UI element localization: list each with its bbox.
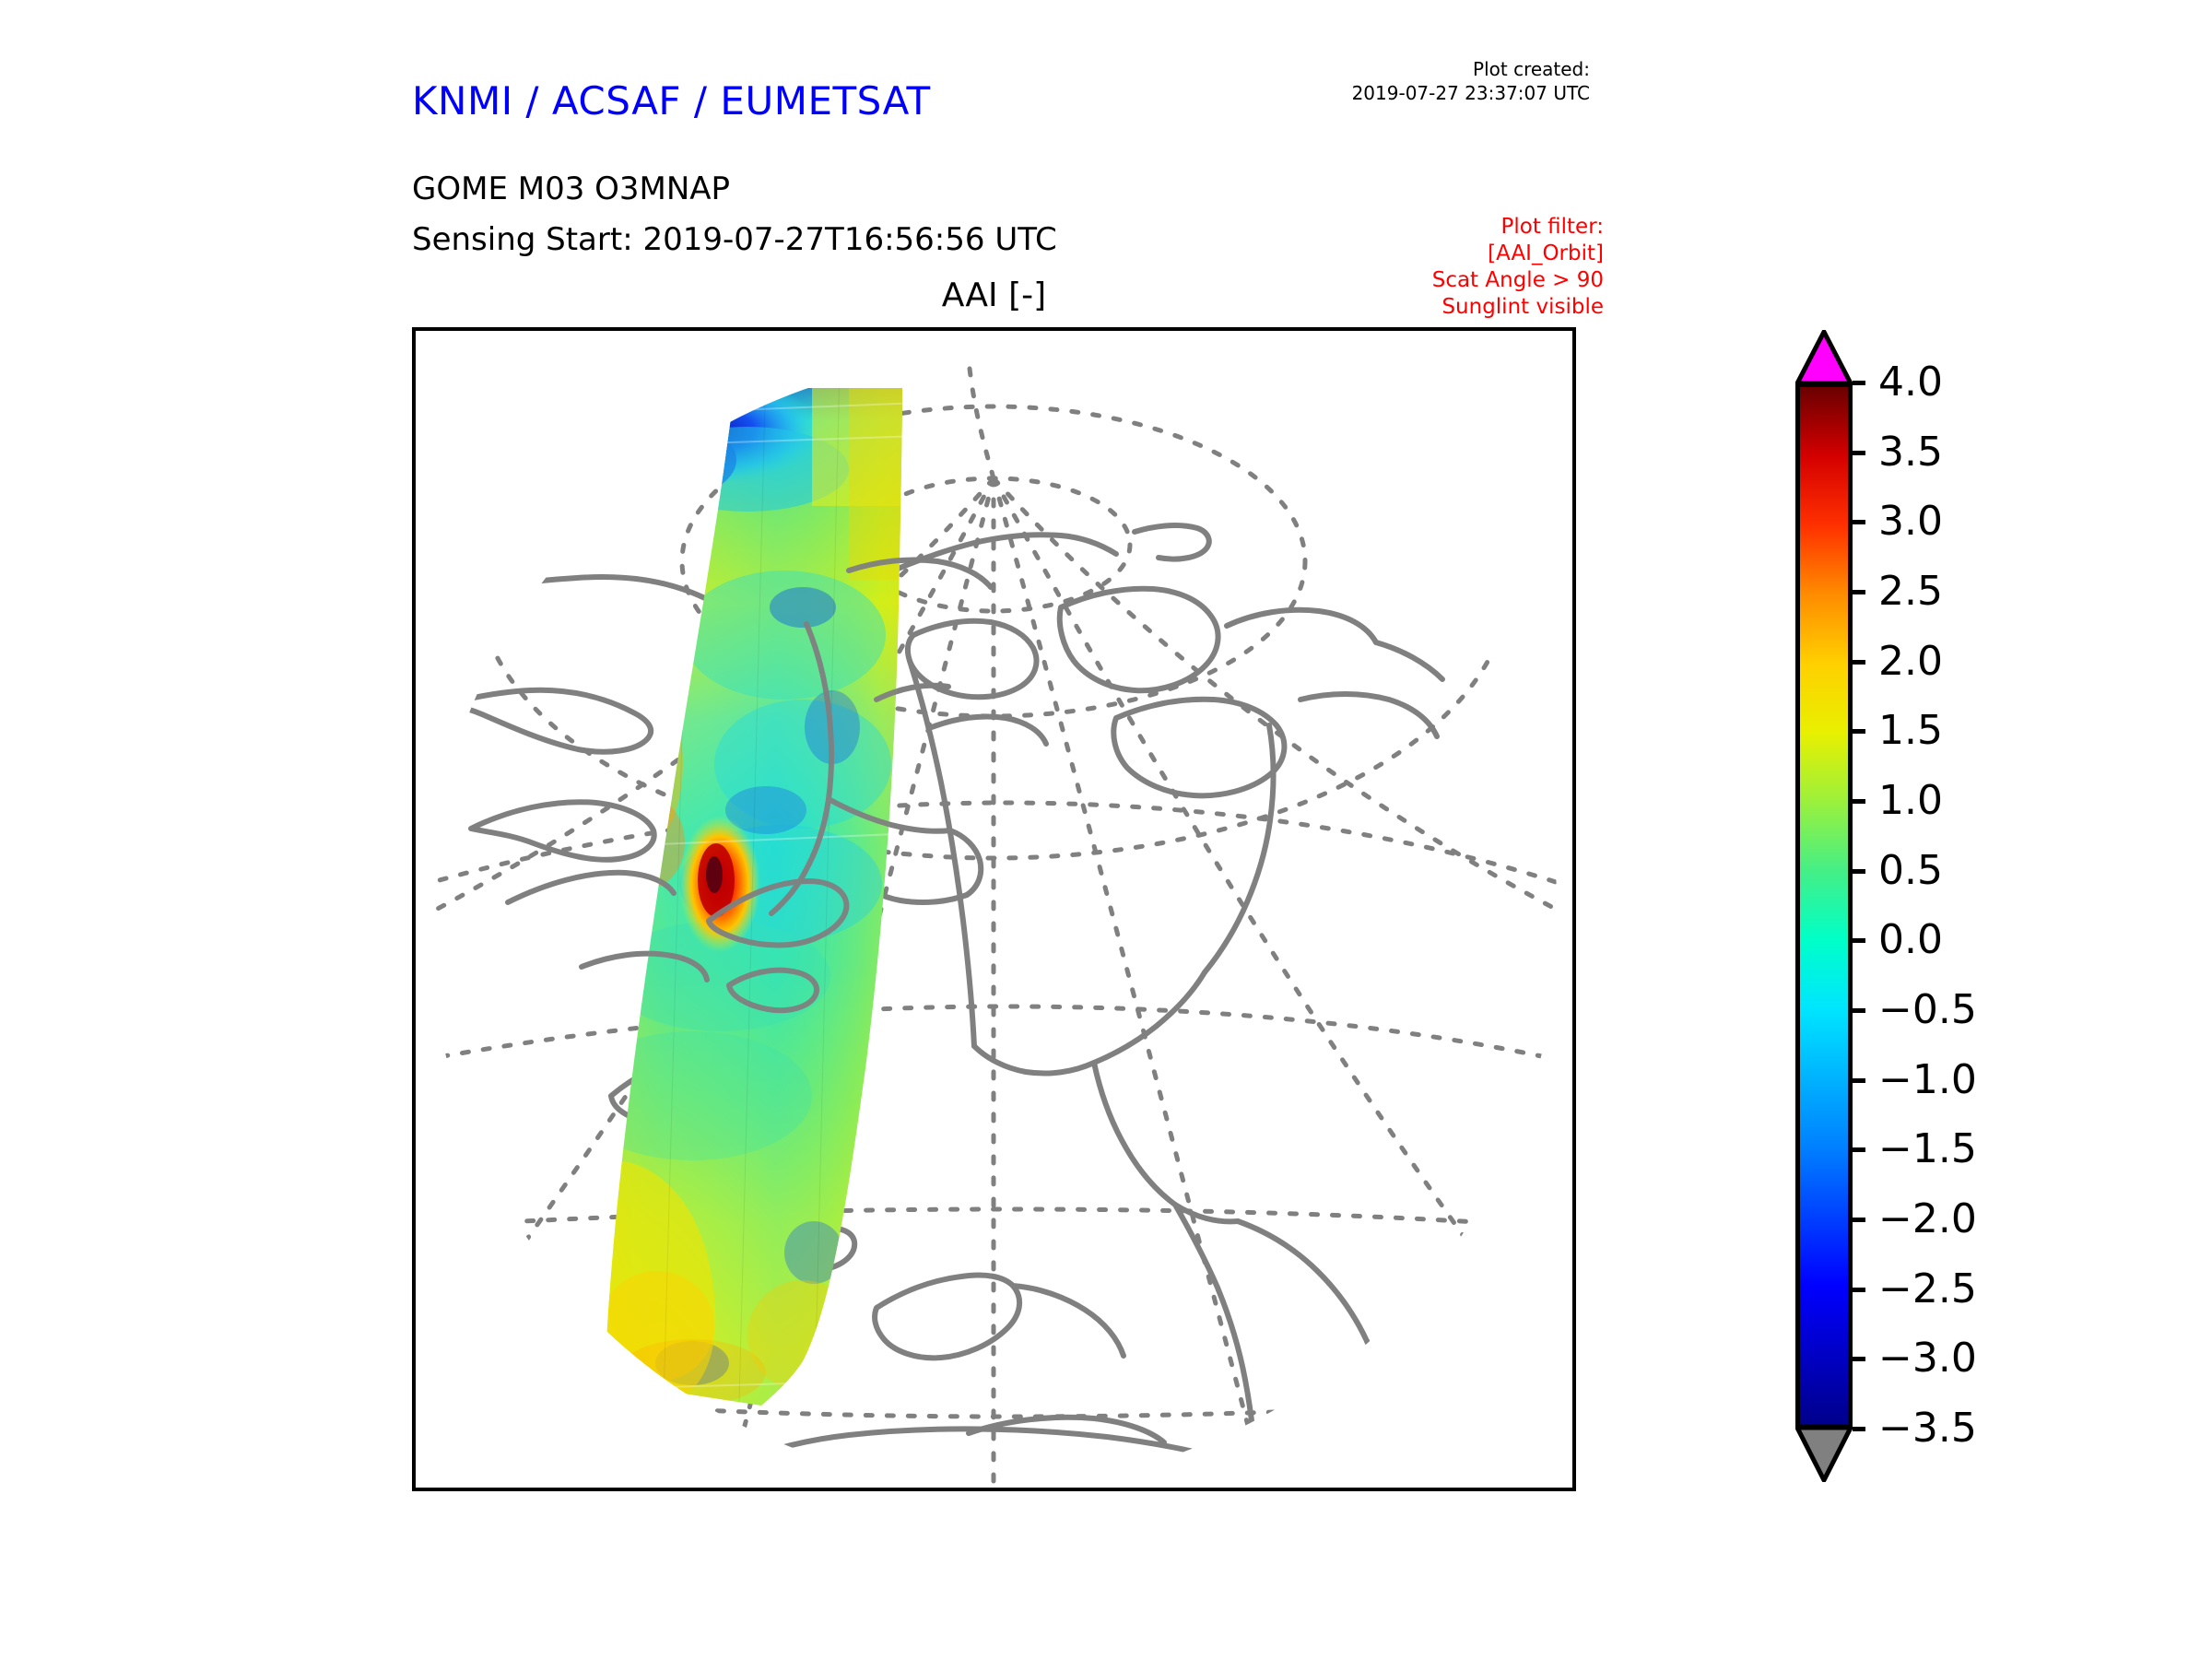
colorbar-tick-label: 2.0: [1878, 641, 1943, 682]
colorbar-tick-label: −3.0: [1878, 1338, 1977, 1379]
organisation-title: KNMI / ACSAF / EUMETSAT: [412, 78, 931, 124]
colorbar-tick-label: 3.0: [1878, 501, 1943, 542]
colorbar-tick-label: 3.5: [1878, 432, 1943, 473]
colorbar-tick: [1853, 520, 1865, 524]
colorbar-tick-label: −1.0: [1878, 1060, 1977, 1100]
colorbar-tick-label: −2.5: [1878, 1269, 1977, 1310]
colorbar-tick-label: 1.5: [1878, 711, 1943, 751]
colorbar-tick: [1853, 1357, 1865, 1361]
colorbar-tick: [1853, 1147, 1865, 1152]
colorbar-tick: [1853, 381, 1865, 385]
plot-created-block: Plot created: 2019-07-27 23:37:07 UTC: [1272, 57, 1590, 105]
colorbar-tick-label: −2.0: [1878, 1199, 1977, 1240]
plot-filter-name: [AAI_Orbit]: [1290, 241, 1604, 267]
colorbar-tick: [1853, 799, 1865, 804]
colorbar-tick: [1853, 869, 1865, 874]
colorbar-tick: [1853, 1008, 1865, 1013]
colorbar-gradient: [1795, 382, 1853, 1429]
colorbar-tick: [1853, 1218, 1865, 1222]
colorbar-tick: [1853, 1078, 1865, 1083]
plot-filter-label: Plot filter:: [1290, 214, 1604, 241]
orthographic-map: [416, 331, 1572, 1488]
colorbar-tick-label: −0.5: [1878, 990, 1977, 1030]
colorbar-over-arrow: [1795, 330, 1853, 385]
colorbar-tick-label: 1.0: [1878, 781, 1943, 821]
colorbar-under-arrow: [1795, 1425, 1853, 1482]
plot-created-value: 2019-07-27 23:37:07 UTC: [1272, 81, 1590, 105]
plot-title: AAI [-]: [412, 276, 1576, 314]
colorbar-tick: [1853, 451, 1865, 455]
colorbar-tick-label: 0.0: [1878, 920, 1943, 960]
dataset-title: GOME M03 O3MNAP: [412, 171, 730, 207]
colorbar-tick: [1853, 729, 1865, 734]
colorbar-tick: [1853, 1288, 1865, 1292]
colorbar-tick: [1853, 590, 1865, 594]
colorbar-tick-label: 2.5: [1878, 571, 1943, 612]
sensing-start-text: Sensing Start: 2019-07-27T16:56:56 UTC: [412, 221, 1057, 258]
plot-created-label: Plot created:: [1272, 57, 1590, 81]
colorbar: 4.03.53.02.52.01.51.00.50.0−0.5−1.0−1.5−…: [1795, 332, 2183, 1502]
colorbar-tick-label: −1.5: [1878, 1129, 1977, 1170]
colorbar-tick: [1853, 938, 1865, 943]
colorbar-tick-label: −3.5: [1878, 1408, 1977, 1449]
colorbar-tick: [1853, 1427, 1865, 1431]
colorbar-tick-label: 0.5: [1878, 851, 1943, 891]
satellite-swath: [572, 368, 932, 1437]
colorbar-tick-label: 4.0: [1878, 362, 1943, 403]
colorbar-tick: [1853, 660, 1865, 665]
graticule: [416, 331, 1572, 1488]
map-plot-area: [412, 327, 1576, 1491]
